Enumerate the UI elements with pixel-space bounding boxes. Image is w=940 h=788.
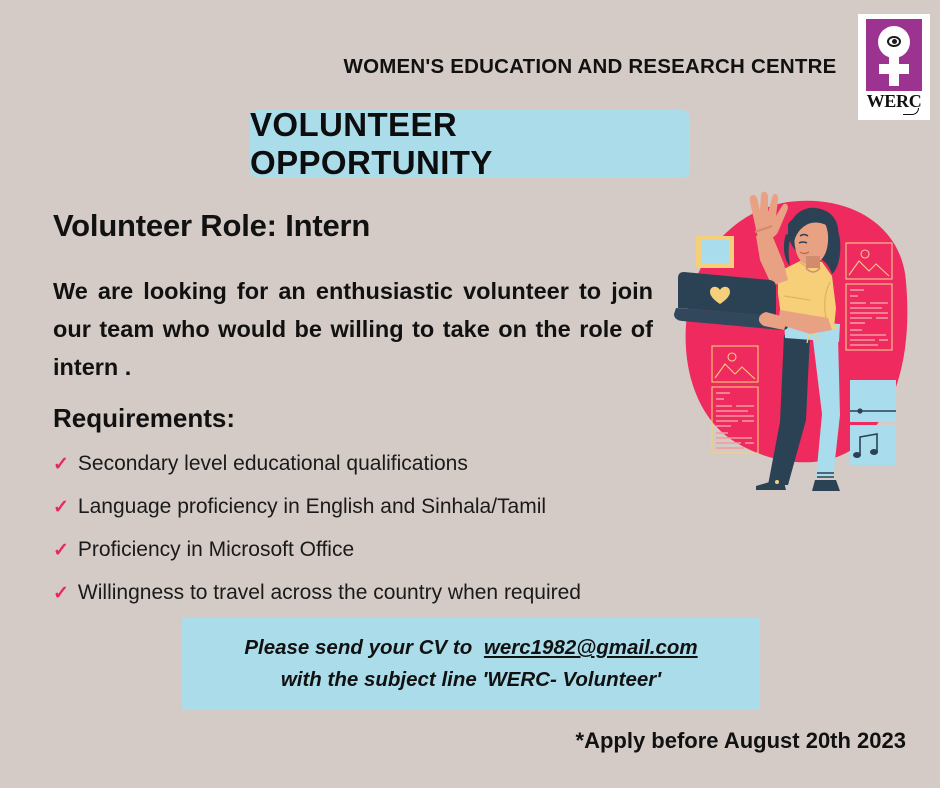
page-title: VOLUNTEER OPPORTUNITY xyxy=(250,106,690,182)
list-item: ✓ Language proficiency in English and Si… xyxy=(53,495,683,520)
check-icon: ✓ xyxy=(53,496,69,520)
requirement-text: Secondary level educational qualificatio… xyxy=(78,452,468,476)
check-icon: ✓ xyxy=(53,453,69,477)
front-shoe xyxy=(812,480,840,491)
yellow-frame-icon xyxy=(696,236,734,268)
music-card-icon xyxy=(850,425,896,465)
cv-line-1-prefix: Please send your CV to xyxy=(244,636,472,659)
eye-pupil-icon xyxy=(892,39,897,44)
intro-paragraph: We are looking for an enthusiastic volun… xyxy=(53,272,653,386)
requirements-heading: Requirements: xyxy=(53,403,235,434)
logo-swoosh-icon xyxy=(903,108,919,115)
role-title: Volunteer Role: Intern xyxy=(53,208,370,244)
list-item: ✓ Proficiency in Microsoft Office xyxy=(53,538,683,563)
cv-instructions-box: Please send your CV to werc1982@gmail.co… xyxy=(182,618,760,710)
venus-symbol-horizontal-icon xyxy=(879,64,909,74)
list-item: ✓ Secondary level educational qualificat… xyxy=(53,452,683,477)
cv-line-2: with the subject line 'WERC- Volunteer' xyxy=(281,664,661,696)
requirement-text: Willingness to travel across the country… xyxy=(78,581,581,605)
email-link[interactable]: werc1982@gmail.com xyxy=(484,636,698,659)
slider-card-icon xyxy=(850,380,896,422)
title-banner: VOLUNTEER OPPORTUNITY xyxy=(250,110,690,178)
list-item: ✓ Willingness to travel across the count… xyxy=(53,581,683,606)
requirement-text: Language proficiency in English and Sinh… xyxy=(78,495,546,519)
volunteer-illustration xyxy=(660,190,940,510)
deadline-note: *Apply before August 20th 2023 xyxy=(0,728,906,754)
check-icon: ✓ xyxy=(53,582,69,606)
requirement-text: Proficiency in Microsoft Office xyxy=(78,538,354,562)
organisation-name: WOMEN'S EDUCATION AND RESEARCH CENTRE xyxy=(330,55,850,79)
check-icon: ✓ xyxy=(53,539,69,563)
requirements-list: ✓ Secondary level educational qualificat… xyxy=(53,452,683,624)
werc-logo: WERC xyxy=(858,14,930,120)
cv-line-1: Please send your CV to werc1982@gmail.co… xyxy=(244,632,697,664)
